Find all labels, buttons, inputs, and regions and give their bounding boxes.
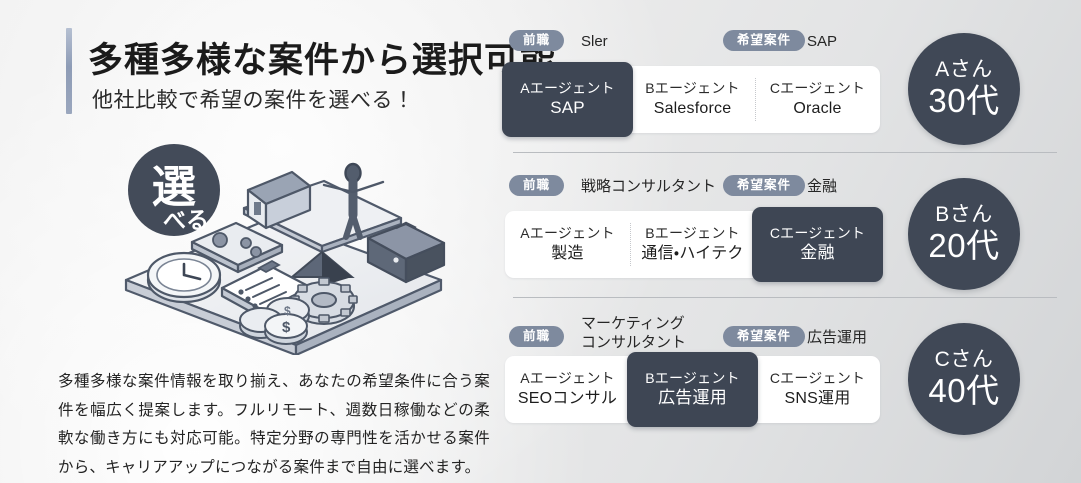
persona-name: Bさん: [935, 203, 993, 226]
previous-job-label: 前職: [509, 326, 564, 347]
page-title: 多種多様な案件から選択可能: [88, 32, 556, 83]
case-row: 前職 マーケティング コンサルタント 希望案件 広告運用 Aエージェント SEO…: [505, 312, 1081, 442]
promo-banner: 多種多様な案件から選択可能 他社比較で希望の案件を選べる！: [0, 0, 1081, 483]
previous-job-label: 前職: [509, 175, 564, 196]
desired-project-label: 希望案件: [723, 175, 805, 196]
agent-job: Oracle: [793, 98, 841, 120]
persona-age: 40代: [928, 372, 999, 410]
case-meta: 前職 Sler 希望案件 SAP: [505, 22, 925, 66]
clock-icon: [148, 253, 220, 302]
agent-job: Salesforce: [654, 98, 732, 120]
desired-project-value: SAP: [807, 32, 837, 51]
agent-name: Aエージェント: [520, 369, 614, 388]
desired-project-label: 希望案件: [723, 326, 805, 347]
agent-job: 製造: [551, 243, 583, 265]
case-rows: 前職 Sler 希望案件 SAP Aエージェント SAP Bエージェント Sal…: [505, 0, 1081, 483]
desired-project-label: 希望案件: [723, 30, 805, 51]
agent-card-a[interactable]: Aエージェント 製造: [505, 211, 630, 278]
agent-job: SNS運用: [785, 388, 851, 410]
persona-circle: Aさん 30代: [908, 33, 1020, 145]
svg-text:$: $: [284, 304, 291, 318]
persona-circle: Bさん 20代: [908, 178, 1020, 290]
agent-card-group: Aエージェント SAP Bエージェント Salesforce Cエージェント O…: [505, 66, 880, 133]
agent-card-group: Aエージェント SEOコンサル Bエージェント 広告運用 Cエージェント SNS…: [505, 356, 880, 423]
page-subtitle: 他社比較で希望の案件を選べる！: [92, 84, 415, 114]
desired-project-value: 広告運用: [807, 328, 867, 347]
previous-job-value: マーケティング コンサルタント: [581, 314, 686, 352]
case-meta: 前職 戦略コンサルタント 希望案件 金融: [505, 167, 925, 211]
agent-name: Bエージェント: [645, 369, 739, 388]
heading-accent-bar: [66, 28, 72, 114]
previous-job-value: Sler: [581, 32, 608, 51]
persona-name: Cさん: [935, 348, 994, 371]
agent-card-group: Aエージェント 製造 Bエージェント 通信・ハイテク Cエージェント 金融: [505, 211, 880, 278]
row-divider: [513, 152, 1057, 153]
agent-job: 金融: [800, 242, 834, 265]
agent-card-a[interactable]: Aエージェント SAP: [502, 62, 633, 137]
case-meta: 前職 マーケティング コンサルタント 希望案件 広告運用: [505, 312, 925, 356]
agent-name: Cエージェント: [770, 224, 865, 243]
agent-job: SAP: [550, 97, 585, 120]
badge-line-1: 選: [152, 163, 196, 212]
agent-card-c[interactable]: Cエージェント SNS運用: [755, 356, 880, 423]
agent-job: SEOコンサル: [518, 388, 617, 410]
persona-name: Aさん: [935, 58, 993, 81]
previous-job-value: 戦略コンサルタント: [581, 177, 716, 196]
agent-name: Bエージェント: [645, 79, 739, 98]
agent-name: Cエージェント: [770, 79, 865, 98]
desired-project-value: 金融: [807, 177, 837, 196]
row-divider: [513, 297, 1057, 298]
case-row: 前職 Sler 希望案件 SAP Aエージェント SAP Bエージェント Sal…: [505, 22, 1081, 152]
svg-text:$: $: [282, 319, 291, 336]
persona-circle: Cさん 40代: [908, 323, 1020, 435]
lead-paragraph: 多種多様な案件情報を取り揃え、あなたの希望条件に合う案件を幅広く提案します。フル…: [58, 368, 490, 483]
agent-card-b[interactable]: Bエージェント Salesforce: [630, 66, 755, 133]
agent-name: Bエージェント: [645, 224, 739, 243]
agent-name: Aエージェント: [520, 79, 614, 98]
agent-card-a[interactable]: Aエージェント SEOコンサル: [505, 356, 630, 423]
choose-badge: 選 べる: [128, 144, 220, 236]
agent-card-c[interactable]: Cエージェント 金融: [752, 207, 883, 282]
previous-job-label: 前職: [509, 30, 564, 51]
badge-line-2: べる: [163, 207, 209, 233]
agent-job: 広告運用: [658, 387, 727, 410]
agent-card-b[interactable]: Bエージェント 通信・ハイテク: [630, 211, 755, 278]
agent-card-c[interactable]: Cエージェント Oracle: [755, 66, 880, 133]
agent-card-b[interactable]: Bエージェント 広告運用: [627, 352, 758, 427]
agent-job: 通信・ハイテク: [641, 243, 743, 265]
persona-age: 30代: [928, 82, 999, 120]
choose-illustration: $ $ 選 べる: [96, 140, 466, 355]
case-row: 前職 戦略コンサルタント 希望案件 金融 Aエージェント 製造 Bエージェント …: [505, 167, 1081, 297]
persona-age: 20代: [928, 227, 999, 265]
agent-name: Cエージェント: [770, 369, 865, 388]
agent-name: Aエージェント: [520, 224, 614, 243]
